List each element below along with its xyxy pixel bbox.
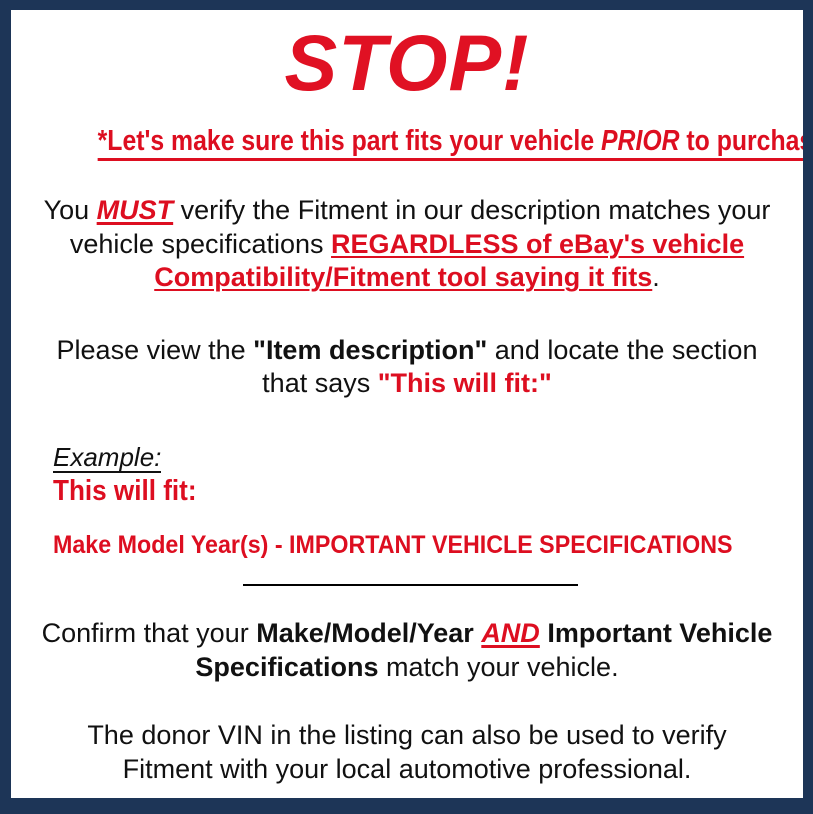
example-fit-row: This will fit: bbox=[53, 473, 781, 507]
example-spec-row: Make Model Year(s) - IMPORTANT VEHICLE S… bbox=[53, 508, 781, 560]
item-description-paragraph: Please view the "Item description" and l… bbox=[33, 334, 781, 401]
must-emphasis: MUST bbox=[97, 195, 174, 225]
must-paragraph-period: . bbox=[652, 262, 660, 292]
tagline-row: *Let's make sure this part fits your veh… bbox=[33, 125, 781, 161]
example-label: Example: bbox=[53, 443, 161, 474]
confirm-make-model-year: Make/Model/Year bbox=[256, 618, 481, 648]
example-divider bbox=[243, 584, 578, 586]
itemdesc-bold-label: "Item description" bbox=[253, 335, 487, 365]
fitment-notice-card: STOP! *Let's make sure this part fits yo… bbox=[11, 10, 803, 798]
tagline: *Let's make sure this part fits your veh… bbox=[98, 125, 803, 161]
donor-vin-paragraph: The donor VIN in the listing can also be… bbox=[33, 719, 781, 786]
example-fit-heading: This will fit: bbox=[53, 475, 197, 507]
must-verify-paragraph: You MUST verify the Fitment in our descr… bbox=[33, 194, 781, 294]
example-spec-line: Make Model Year(s) - IMPORTANT VEHICLE S… bbox=[53, 532, 733, 560]
confirm-part2: match your vehicle. bbox=[378, 652, 618, 682]
fitment-notice-frame: STOP! *Let's make sure this part fits yo… bbox=[0, 0, 813, 814]
itemdesc-part1: Please view the bbox=[57, 335, 254, 365]
stop-headline: STOP! bbox=[33, 10, 781, 102]
confirm-paragraph: Confirm that your Make/Model/Year AND Im… bbox=[33, 617, 781, 684]
tagline-lead: *Let's make sure this part fits your veh… bbox=[98, 125, 601, 157]
this-will-fit-quote: "This will fit:" bbox=[378, 368, 552, 398]
example-block: Example: This will fit: Make Model Year(… bbox=[33, 443, 781, 587]
tagline-trail: to purchasing* bbox=[680, 125, 803, 157]
tagline-emphasis-prior: PRIOR bbox=[601, 125, 680, 157]
confirm-part1: Confirm that your bbox=[42, 618, 257, 648]
must-paragraph-part1: You bbox=[44, 195, 97, 225]
confirm-and-emphasis: AND bbox=[481, 618, 540, 648]
example-label-row: Example: bbox=[53, 443, 781, 474]
